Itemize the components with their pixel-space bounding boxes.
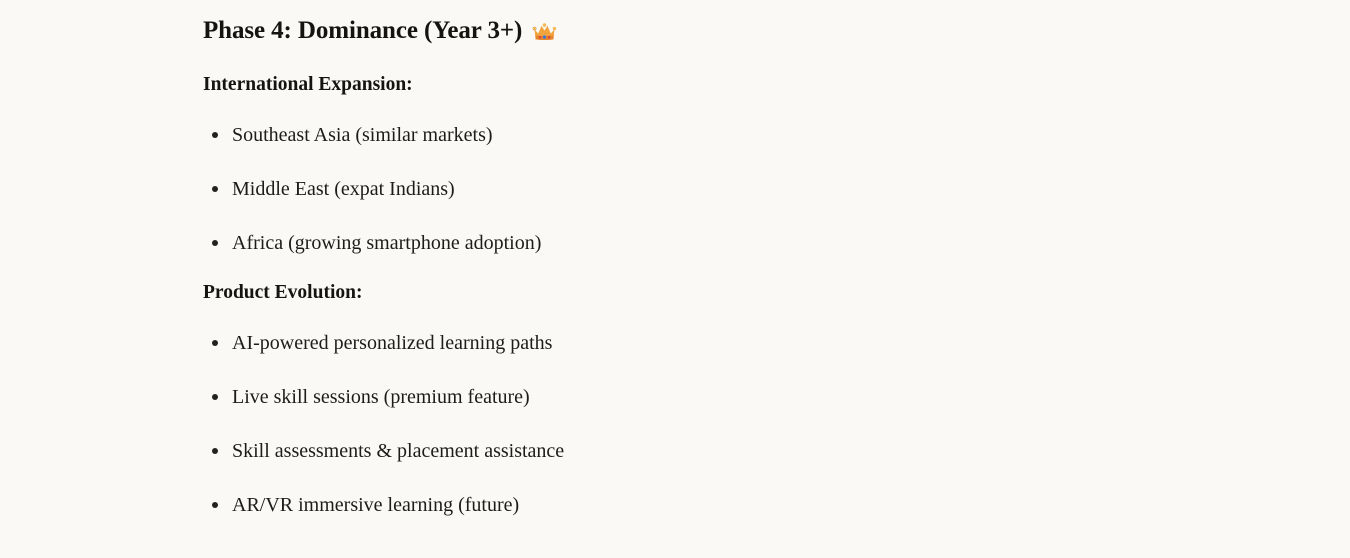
list-item: AR/VR immersive learning (future) bbox=[203, 478, 1203, 532]
page-title: Phase 4: Dominance (Year 3+) bbox=[203, 0, 1203, 62]
list-international-expansion: Southeast Asia (similar markets) Middle … bbox=[203, 108, 1203, 270]
list-item-label: Middle East (expat Indians) bbox=[232, 178, 455, 200]
list-item-label: AR/VR immersive learning (future) bbox=[232, 494, 519, 516]
list-item: Southeast Asia (similar markets) bbox=[203, 108, 1203, 162]
list-item-label: AI-powered personalized learning paths bbox=[232, 332, 552, 354]
section-heading-international-expansion: International Expansion: bbox=[203, 62, 1203, 108]
document-page: Phase 4: Dominance (Year 3+) Internation… bbox=[0, 0, 1350, 558]
section-heading-product-evolution: Product Evolution: bbox=[203, 270, 1203, 316]
list-item: Skill assessments & placement assistance bbox=[203, 424, 1203, 478]
phase-heading-text: Phase 4: Dominance (Year 3+) bbox=[203, 0, 522, 62]
list-item-label: Live skill sessions (premium feature) bbox=[232, 386, 530, 408]
crown-icon bbox=[531, 19, 558, 46]
list-product-evolution: AI-powered personalized learning paths L… bbox=[203, 316, 1203, 532]
list-item-label: Southeast Asia (similar markets) bbox=[232, 124, 493, 146]
list-item: AI-powered personalized learning paths bbox=[203, 316, 1203, 370]
list-item-label: Skill assessments & placement assistance bbox=[232, 440, 564, 462]
document-content: Phase 4: Dominance (Year 3+) Internation… bbox=[203, 0, 1203, 532]
list-item: Live skill sessions (premium feature) bbox=[203, 370, 1203, 424]
list-item: Middle East (expat Indians) bbox=[203, 162, 1203, 216]
list-item-label: Africa (growing smartphone adoption) bbox=[232, 232, 541, 254]
list-item: Africa (growing smartphone adoption) bbox=[203, 216, 1203, 270]
